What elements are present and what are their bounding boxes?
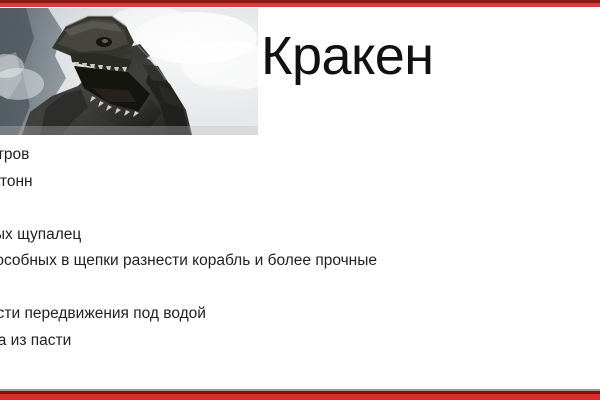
bottom-bar-red — [0, 394, 600, 400]
fact-line: юстей, способных в щепки разнести корабл… — [0, 248, 600, 275]
fact-line-text: нных и мощных щупалец — [0, 222, 81, 249]
fact-line: ≈13500 тонн — [0, 169, 600, 196]
fact-line: ≈90 метров — [0, 142, 600, 169]
fact-list: ≈90 метров ≈13500 тонн ен из-за: нных и … — [0, 142, 600, 354]
fact-line-text: юстей, способных в щепки разнести корабл… — [0, 248, 377, 275]
monster-photo — [0, 8, 258, 135]
bottom-accent-bar — [0, 389, 600, 400]
top-bar-light-edge — [0, 5, 600, 7]
fact-line: ен из-за: — [0, 195, 600, 222]
slide-canvas: Кракен ≈90 метров ≈13500 тонн ен из-за: … — [0, 0, 600, 400]
fact-line: пления — [0, 275, 600, 302]
fact-line-text: хого запаха из пасти — [0, 328, 71, 355]
monster-photo-artwork — [0, 8, 258, 135]
fact-line-text: ьшой скорости передвижения под водой — [0, 301, 206, 328]
page-title: Кракен — [261, 24, 434, 88]
fact-line: хого запаха из пасти — [0, 328, 600, 355]
fact-line: ьшой скорости передвижения под водой — [0, 301, 600, 328]
fact-line: нных и мощных щупалец — [0, 222, 600, 249]
top-accent-bar — [0, 0, 600, 7]
fact-line-text: ≈13500 тонн — [0, 169, 33, 196]
fact-line-text: ≈90 метров — [0, 142, 29, 169]
